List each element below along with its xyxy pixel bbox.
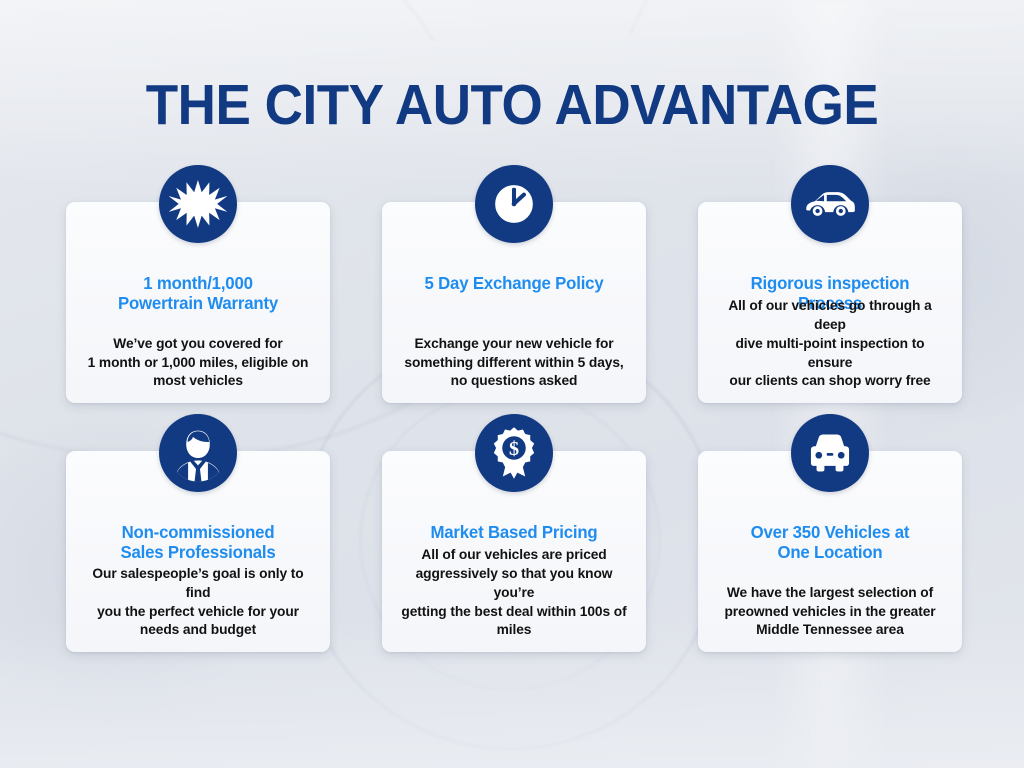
card-body: We’ve got you covered for 1 month or 1,0… bbox=[81, 335, 316, 391]
salesperson-icon bbox=[159, 414, 237, 492]
page-title: THE CITY AUTO ADVANTAGE bbox=[36, 72, 988, 138]
car-side-icon bbox=[791, 165, 869, 243]
advantage-infographic: THE CITY AUTO ADVANTAGE 1 month/1,000 Po… bbox=[0, 0, 1024, 768]
card-heading: 5 Day Exchange Policy bbox=[397, 274, 631, 294]
card-heading: Non-commissioned Sales Professionals bbox=[81, 523, 315, 562]
advantage-card: Non-commissioned Sales Professionals Our… bbox=[66, 451, 330, 652]
advantage-card-grid: 1 month/1,000 Powertrain Warranty We’ve … bbox=[66, 202, 966, 652]
starburst-icon bbox=[159, 165, 237, 243]
advantage-card: 5 Day Exchange Policy Exchange your new … bbox=[382, 202, 646, 403]
advantage-card: Over 350 Vehicles at One Location We hav… bbox=[698, 451, 962, 652]
advantage-card: 1 month/1,000 Powertrain Warranty We’ve … bbox=[66, 202, 330, 403]
car-front-icon bbox=[791, 414, 869, 492]
clock-icon bbox=[475, 165, 553, 243]
card-body: All of our vehicles are priced aggressiv… bbox=[397, 546, 632, 640]
card-body: All of our vehicles go through a deep di… bbox=[713, 297, 948, 391]
svg-text:$: $ bbox=[509, 438, 519, 460]
card-heading: Over 350 Vehicles at One Location bbox=[713, 523, 947, 562]
advantage-card: $ Market Based Pricing All of our vehicl… bbox=[382, 451, 646, 652]
card-body: We have the largest selection of preowne… bbox=[713, 584, 948, 640]
advantage-card: Rigorous inspection Process All of our v… bbox=[698, 202, 962, 403]
card-heading: Market Based Pricing bbox=[397, 523, 631, 543]
card-body: Our salespeople’s goal is only to find y… bbox=[81, 565, 316, 640]
card-heading: 1 month/1,000 Powertrain Warranty bbox=[81, 274, 315, 313]
card-body: Exchange your new vehicle for something … bbox=[397, 335, 632, 391]
price-badge-icon: $ bbox=[475, 414, 553, 492]
